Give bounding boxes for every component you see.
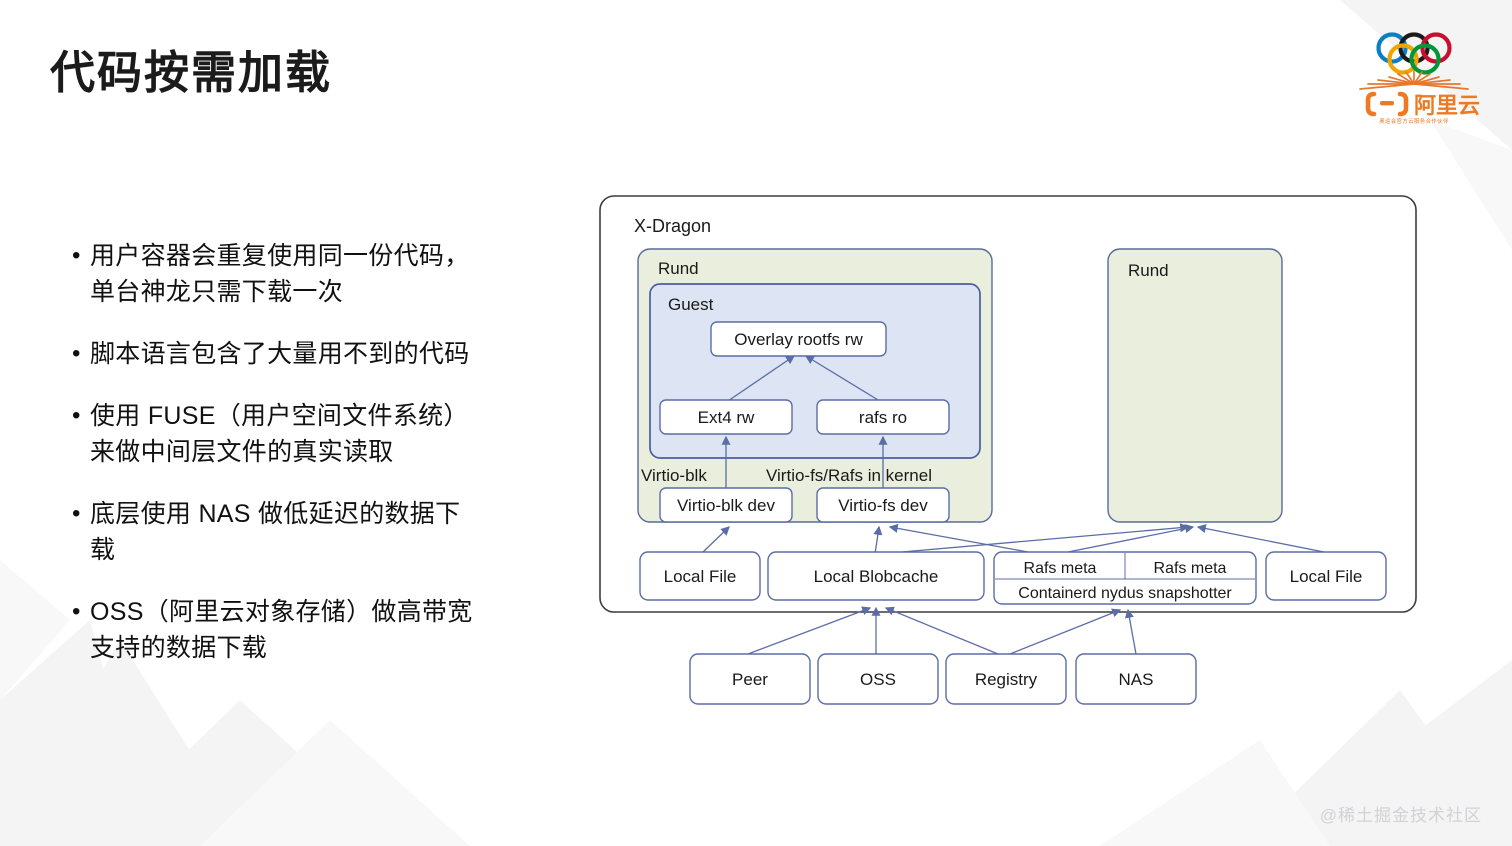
aliyun-brand-mark-icon — [1368, 94, 1406, 114]
bullet-line: OSS（阿里云对象存储）做高带宽 — [90, 594, 473, 630]
node-local-file-left-label: Local File — [664, 567, 737, 586]
node-nas: NAS — [1076, 654, 1196, 704]
container-guest-label: Guest — [668, 295, 714, 314]
container-rund-left-label: Rund — [658, 259, 699, 278]
node-overlay-rootfs: Overlay rootfs rw — [711, 322, 886, 356]
container-x-dragon-label: X-Dragon — [634, 216, 711, 236]
bullet-label: 使用 FUSE（用户空间文件系统） 来做中间层文件的真实读取 — [90, 398, 469, 470]
bullet-line: 支持的数据下载 — [90, 630, 473, 666]
bullet-marker: • — [64, 336, 90, 372]
container-rund-right-label: Rund — [1128, 261, 1169, 280]
node-oss: OSS — [818, 654, 938, 704]
bullet-line: 使用 FUSE（用户空间文件系统） — [90, 398, 469, 434]
page-title: 代码按需加载 — [50, 36, 332, 101]
bullet-line: 用户容器会重复使用同一份代码， — [90, 238, 470, 274]
alibaba-cloud-olympic-logo: 阿里云 奥运会官方云服务合作伙伴 — [1344, 14, 1484, 126]
architecture-diagram: X-Dragon Rund Guest Rund Overlay rootfs … — [598, 194, 1418, 734]
bullet-item: • 脚本语言包含了大量用不到的代码 — [64, 336, 584, 372]
node-local-file-right: Local File — [1266, 552, 1386, 600]
node-registry: Registry — [946, 654, 1066, 704]
bullet-list: • 用户容器会重复使用同一份代码， 单台神龙只需下载一次 • 脚本语言包含了大量… — [64, 238, 584, 692]
bullet-line: 来做中间层文件的真实读取 — [90, 434, 469, 470]
node-peer: Peer — [690, 654, 810, 704]
bullet-marker: • — [64, 238, 90, 274]
node-ext4-rw: Ext4 rw — [660, 400, 792, 434]
node-virtio-blk-dev-label: Virtio-blk dev — [677, 496, 775, 515]
node-rafs-meta-1-label: Rafs meta — [1024, 560, 1097, 577]
node-local-file-right-label: Local File — [1290, 567, 1363, 586]
bullet-label: 脚本语言包含了大量用不到的代码 — [90, 336, 470, 372]
bullet-marker: • — [64, 496, 90, 532]
node-peer-label: Peer — [732, 670, 768, 689]
node-local-file-left: Local File — [640, 552, 760, 600]
node-virtio-fs-dev-label: Virtio-fs dev — [838, 496, 928, 515]
node-rafs-ro: rafs ro — [817, 400, 949, 434]
node-registry-label: Registry — [975, 670, 1038, 689]
node-nas-label: NAS — [1119, 670, 1154, 689]
bullet-line: 载 — [90, 532, 460, 568]
sunburst-rays-icon — [1360, 71, 1468, 89]
label-virtio-blk: Virtio-blk — [641, 466, 707, 485]
node-rafs-meta-2-label: Rafs meta — [1154, 560, 1227, 577]
bullet-label: 底层使用 NAS 做低延迟的数据下 载 — [90, 496, 460, 568]
label-virtio-fs-rafs: Virtio-fs/Rafs in kernel — [766, 466, 932, 485]
bullet-line: 单台神龙只需下载一次 — [90, 274, 470, 310]
bullet-item: • 使用 FUSE（用户空间文件系统） 来做中间层文件的真实读取 — [64, 398, 584, 470]
node-snapshotter-label: Containerd nydus snapshotter — [1018, 585, 1232, 602]
bullet-line: 脚本语言包含了大量用不到的代码 — [90, 336, 470, 372]
container-rund-right: Rund — [1108, 249, 1282, 522]
logo-brand-text: 阿里云 — [1414, 93, 1480, 118]
bullet-item: • OSS（阿里云对象存储）做高带宽 支持的数据下载 — [64, 594, 584, 666]
watermark: @稀土掘金技术社区 — [1320, 801, 1482, 826]
bullet-item: • 用户容器会重复使用同一份代码， 单台神龙只需下载一次 — [64, 238, 584, 310]
node-ext4-rw-label: Ext4 rw — [698, 408, 755, 427]
node-rafs-ro-label: rafs ro — [859, 408, 907, 427]
node-overlay-rootfs-label: Overlay rootfs rw — [734, 330, 863, 349]
node-local-blobcache: Local Blobcache — [768, 552, 984, 600]
bullet-marker: • — [64, 398, 90, 434]
node-virtio-fs-dev: Virtio-fs dev — [817, 488, 949, 522]
node-local-blobcache-label: Local Blobcache — [814, 567, 939, 586]
bullet-label: OSS（阿里云对象存储）做高带宽 支持的数据下载 — [90, 594, 473, 666]
bullet-marker: • — [64, 594, 90, 630]
diagram-edges-sources — [748, 608, 1136, 654]
node-snapshotter-group: Rafs meta Rafs meta Containerd nydus sna… — [994, 552, 1256, 604]
node-virtio-blk-dev: Virtio-blk dev — [660, 488, 792, 522]
node-oss-label: OSS — [860, 670, 896, 689]
bullet-line: 底层使用 NAS 做低延迟的数据下 — [90, 496, 460, 532]
bullet-item: • 底层使用 NAS 做低延迟的数据下 载 — [64, 496, 584, 568]
olympic-rings-icon — [1379, 35, 1450, 73]
bullet-label: 用户容器会重复使用同一份代码， 单台神龙只需下载一次 — [90, 238, 470, 310]
logo-tagline: 奥运会官方云服务合作伙伴 — [1379, 117, 1449, 125]
